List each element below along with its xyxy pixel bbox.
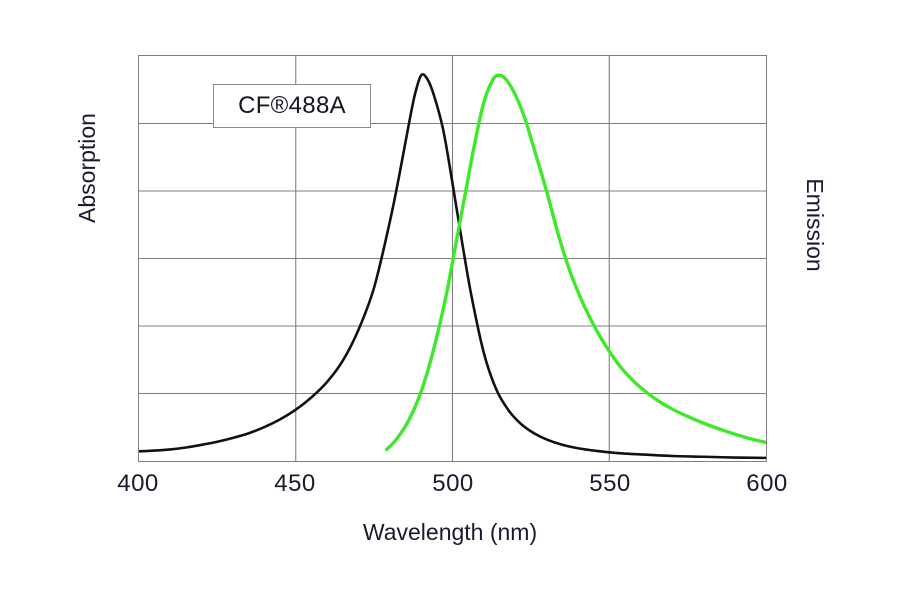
y-axis-title-right: Emission (801, 145, 828, 305)
legend-label: CF®488A (238, 92, 346, 120)
x-axis-title: Wavelength (nm) (0, 519, 900, 546)
x-tick-label-4: 600 (746, 470, 788, 498)
x-tick-label-3: 550 (589, 470, 631, 498)
y-axis-title-left: Absorption (74, 88, 101, 248)
legend-box: CF®488A (213, 84, 371, 128)
x-tick-label-0: 400 (117, 470, 159, 498)
spectra-chart-figure: 400 450 500 550 600 Wavelength (nm) Abso… (0, 0, 900, 594)
x-tick-label-2: 500 (432, 470, 474, 498)
x-tick-label-1: 450 (274, 470, 316, 498)
